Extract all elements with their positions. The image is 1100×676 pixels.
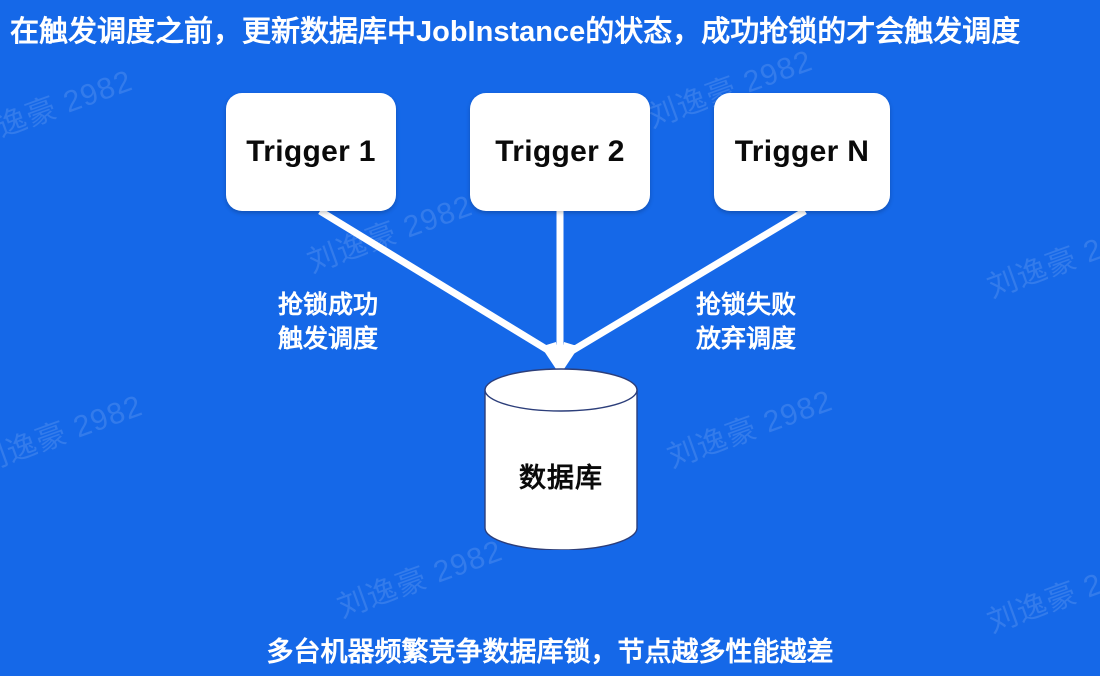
trigger-node-n[interactable]: Trigger N	[714, 93, 890, 211]
diagram-canvas: 刘逸豪 2982 刘逸豪 2982 刘逸豪 2982 刘逸豪 2982 刘逸豪 …	[0, 0, 1100, 676]
trigger-node-1-label: Trigger 1	[246, 135, 375, 169]
edge-label-lock-failure-line2: 放弃调度	[696, 322, 796, 356]
trigger-node-n-label: Trigger N	[735, 135, 869, 169]
edge-label-lock-success: 抢锁成功 触发调度	[278, 288, 378, 356]
edge-label-lock-success-line2: 触发调度	[278, 322, 378, 356]
edge-label-lock-failure: 抢锁失败 放弃调度	[696, 288, 796, 356]
page-title: 在触发调度之前，更新数据库中JobInstance的状态，成功抢锁的才会触发调度	[10, 12, 1095, 52]
trigger-node-1[interactable]: Trigger 1	[226, 93, 396, 211]
edge-label-lock-success-line1: 抢锁成功	[278, 288, 378, 322]
trigger-node-2[interactable]: Trigger 2	[470, 93, 650, 211]
database-node[interactable]: 数据库	[484, 368, 638, 550]
database-node-label: 数据库	[484, 456, 638, 495]
edge-label-lock-failure-line1: 抢锁失败	[696, 288, 796, 322]
footer-caption: 多台机器频繁竞争数据库锁，节点越多性能越差	[0, 630, 1100, 669]
cylinder-top	[485, 369, 637, 411]
trigger-node-2-label: Trigger 2	[495, 135, 624, 169]
